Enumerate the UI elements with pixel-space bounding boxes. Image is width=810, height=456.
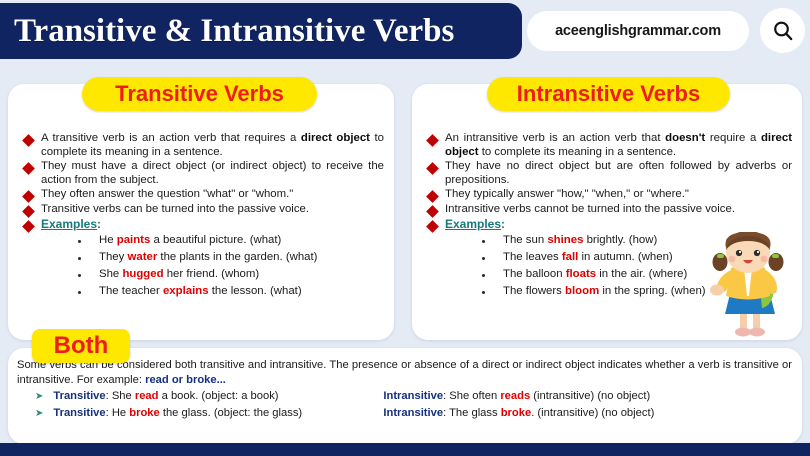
bullet-item: They often answer the question "what" or… xyxy=(22,188,384,202)
transitive-examples-list: He paints a beautiful picture. (what) Th… xyxy=(78,234,384,298)
bullet-text: They typically answer "how," "when," or … xyxy=(445,188,792,202)
dot-bullet-icon xyxy=(482,291,485,294)
dot-bullet-icon xyxy=(78,257,81,260)
dot-bullet-icon xyxy=(78,291,81,294)
example-text: The teacher explains the lesson. (what) xyxy=(99,285,302,298)
page-title: Transitive & Intransitive Verbs xyxy=(14,13,454,50)
intransitive-example: Intransitive: The glass broke. (intransi… xyxy=(383,407,792,420)
both-paragraph: Some verbs can be considered both transi… xyxy=(17,358,792,387)
bullet-text: A transitive verb is an action verb that… xyxy=(41,132,384,159)
examples-heading-row: Examples: xyxy=(22,218,384,233)
example-text: The sun shines brightly. (how) xyxy=(503,234,657,247)
diamond-bullet-icon xyxy=(426,205,439,218)
search-button[interactable] xyxy=(760,8,805,53)
bullet-text: An intransitive verb is an action verb t… xyxy=(445,132,792,159)
example-text: She hugged her friend. (whom) xyxy=(99,268,259,281)
footer-bar xyxy=(0,443,810,456)
page-header: Transitive & Intransitive Verbs aceengli… xyxy=(0,0,810,62)
bullet-text: Transitive verbs can be turned into the … xyxy=(41,203,384,217)
both-row: ➤ Transitive: He broke the glass. (objec… xyxy=(17,407,792,420)
diamond-bullet-icon xyxy=(426,134,439,147)
bullet-text: Intransitive verbs cannot be turned into… xyxy=(445,203,792,217)
badge-both: Both xyxy=(32,329,130,363)
diamond-bullet-icon xyxy=(426,220,439,233)
example-item: The teacher explains the lesson. (what) xyxy=(78,285,384,298)
diamond-bullet-icon xyxy=(426,162,439,175)
bullet-item: They must have a direct object (or indir… xyxy=(22,160,384,187)
examples-label: Examples xyxy=(41,217,97,231)
transitive-bullet-list: A transitive verb is an action verb that… xyxy=(22,132,384,302)
examples-colon: : xyxy=(97,217,101,231)
diamond-bullet-icon xyxy=(22,134,35,147)
example-item: She hugged her friend. (whom) xyxy=(78,268,384,281)
search-icon xyxy=(772,20,794,42)
bullet-item: Intransitive verbs cannot be turned into… xyxy=(426,203,792,217)
both-card: Some verbs can be considered both transi… xyxy=(8,348,802,444)
badge-intransitive-verbs: Intransitive Verbs xyxy=(487,77,730,111)
both-rows: ➤ Transitive: She read a book. (object: … xyxy=(17,390,792,420)
example-text: The balloon floats in the air. (where) xyxy=(503,268,687,281)
both-body: Some verbs can be considered both transi… xyxy=(17,358,792,424)
examples-colon: : xyxy=(501,217,505,231)
title-bar: Transitive & Intransitive Verbs xyxy=(0,3,522,59)
example-item: He paints a beautiful picture. (what) xyxy=(78,234,384,247)
dot-bullet-icon xyxy=(482,240,485,243)
bullet-item: They typically answer "how," "when," or … xyxy=(426,188,792,202)
badge-transitive-verbs: Transitive Verbs xyxy=(82,77,317,111)
diamond-bullet-icon xyxy=(22,191,35,204)
example-text: The leaves fall in autumn. (when) xyxy=(503,251,673,264)
bullet-text: They have no direct object but are often… xyxy=(445,160,792,187)
examples-heading-row: Examples: xyxy=(426,218,792,233)
bullet-item: A transitive verb is an action verb that… xyxy=(22,132,384,159)
bullet-text: They often answer the question "what" or… xyxy=(41,188,384,202)
diamond-bullet-icon xyxy=(22,205,35,218)
girl-pointing-illustration xyxy=(700,232,796,340)
arrow-bullet-icon: ➤ xyxy=(35,408,43,420)
site-url-pill[interactable]: aceenglishgrammar.com xyxy=(527,11,749,51)
bullet-item: An intransitive verb is an action verb t… xyxy=(426,132,792,159)
examples-label: Examples xyxy=(445,217,501,231)
dot-bullet-icon xyxy=(482,257,485,260)
dot-bullet-icon xyxy=(78,240,81,243)
transitive-verbs-card: A transitive verb is an action verb that… xyxy=(8,84,394,340)
transitive-example: Transitive: She read a book. (object: a … xyxy=(53,390,383,403)
example-text: He paints a beautiful picture. (what) xyxy=(99,234,281,247)
example-item: They water the plants in the garden. (wh… xyxy=(78,251,384,264)
intransitive-example: Intransitive: She often reads (intransit… xyxy=(383,390,792,403)
diamond-bullet-icon xyxy=(22,220,35,233)
diamond-bullet-icon xyxy=(22,162,35,175)
both-row: ➤ Transitive: She read a book. (object: … xyxy=(17,390,792,403)
site-url-text: aceenglishgrammar.com xyxy=(555,23,721,39)
bullet-text: They must have a direct object (or indir… xyxy=(41,160,384,187)
example-text: They water the plants in the garden. (wh… xyxy=(99,251,317,264)
example-text: The flowers bloom in the spring. (when) xyxy=(503,285,706,298)
arrow-bullet-icon: ➤ xyxy=(35,391,43,403)
dot-bullet-icon xyxy=(78,274,81,277)
bullet-item: Transitive verbs can be turned into the … xyxy=(22,203,384,217)
infographic-page: Transitive & Intransitive Verbs aceengli… xyxy=(0,0,810,456)
dot-bullet-icon xyxy=(482,274,485,277)
transitive-example: Transitive: He broke the glass. (object:… xyxy=(53,407,383,420)
diamond-bullet-icon xyxy=(426,191,439,204)
bullet-item: They have no direct object but are often… xyxy=(426,160,792,187)
